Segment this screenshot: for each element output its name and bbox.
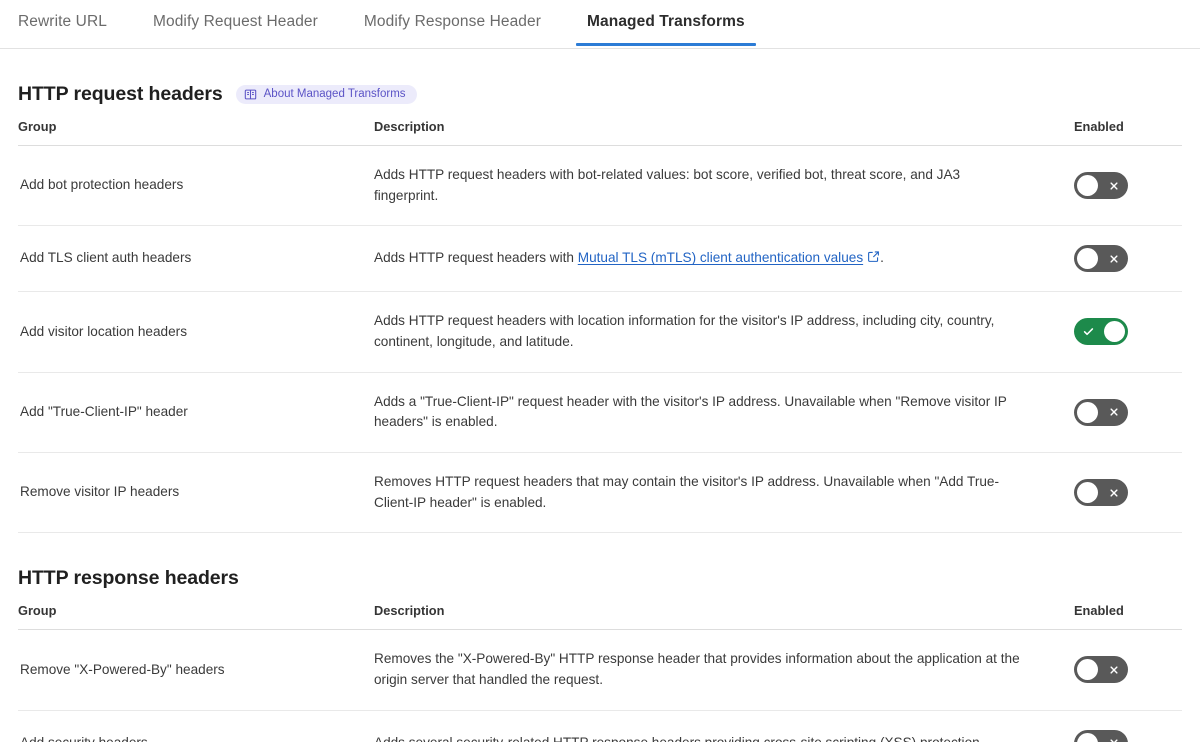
column-header-group: Group <box>18 603 374 630</box>
enabled-toggle[interactable] <box>1074 656 1128 683</box>
row-group-name: Add bot protection headers <box>18 146 374 226</box>
table-header-row: GroupDescriptionEnabled <box>18 119 1182 146</box>
row-group-name: Remove "X-Powered-By" headers <box>18 630 374 710</box>
tab-managed-transforms[interactable]: Managed Transforms <box>587 0 745 45</box>
row-enabled-cell <box>1074 226 1182 292</box>
row-description: Adds several security-related HTTP respo… <box>374 710 1074 742</box>
column-header-enabled: Enabled <box>1074 603 1182 630</box>
table-header-row: GroupDescriptionEnabled <box>18 603 1182 630</box>
toggle-knob <box>1077 402 1098 423</box>
section-header: HTTP request headersAbout Managed Transf… <box>18 83 1182 106</box>
row-enabled-cell <box>1074 292 1182 372</box>
section-header: HTTP response headers <box>18 567 1182 590</box>
row-description: Adds HTTP request headers with location … <box>374 292 1074 372</box>
close-icon <box>1100 656 1127 683</box>
tab-rewrite-url[interactable]: Rewrite URL <box>18 0 107 45</box>
table-row: Remove "X-Powered-By" headersRemoves the… <box>18 630 1182 710</box>
row-enabled-cell <box>1074 630 1182 710</box>
close-icon <box>1100 479 1127 506</box>
row-enabled-cell <box>1074 146 1182 226</box>
toggle-knob <box>1104 321 1125 342</box>
about-managed-transforms-badge[interactable]: About Managed Transforms <box>236 85 417 104</box>
row-group-name: Add visitor location headers <box>18 292 374 372</box>
row-group-name: Add security headers <box>18 710 374 742</box>
toggle-knob <box>1077 733 1098 742</box>
check-icon <box>1075 318 1102 345</box>
enabled-toggle[interactable] <box>1074 399 1128 426</box>
book-icon <box>244 88 257 101</box>
row-enabled-cell <box>1074 452 1182 532</box>
close-icon <box>1100 730 1127 742</box>
enabled-toggle[interactable] <box>1074 318 1128 345</box>
row-description: Adds HTTP request headers with bot-relat… <box>374 146 1074 226</box>
tab-bar: Rewrite URLModify Request HeaderModify R… <box>0 0 1200 49</box>
tab-modify-response-header[interactable]: Modify Response Header <box>364 0 541 45</box>
table-row: Add TLS client auth headersAdds HTTP req… <box>18 226 1182 292</box>
column-header-group: Group <box>18 119 374 146</box>
section-http-response-headers: HTTP response headersGroupDescriptionEna… <box>0 567 1200 742</box>
enabled-toggle[interactable] <box>1074 730 1128 742</box>
table-row: Add visitor location headersAdds HTTP re… <box>18 292 1182 372</box>
row-description: Removes the "X-Powered-By" HTTP response… <box>374 630 1074 710</box>
column-header-description: Description <box>374 603 1074 630</box>
row-enabled-cell <box>1074 710 1182 742</box>
row-description: Removes HTTP request headers that may co… <box>374 452 1074 532</box>
close-icon <box>1100 399 1127 426</box>
managed-transforms-table: GroupDescriptionEnabledAdd bot protectio… <box>18 119 1182 533</box>
row-group-name: Add TLS client auth headers <box>18 226 374 292</box>
row-description: Adds a "True-Client-IP" request header w… <box>374 372 1074 452</box>
enabled-toggle[interactable] <box>1074 172 1128 199</box>
description-text: Adds HTTP request headers with <box>374 250 578 265</box>
row-group-name: Remove visitor IP headers <box>18 452 374 532</box>
table-row: Add "True-Client-IP" headerAdds a "True-… <box>18 372 1182 452</box>
close-icon <box>1100 245 1127 272</box>
section-title: HTTP response headers <box>18 567 239 590</box>
column-header-enabled: Enabled <box>1074 119 1182 146</box>
about-badge-label: About Managed Transforms <box>264 89 406 101</box>
tab-modify-request-header[interactable]: Modify Request Header <box>153 0 318 45</box>
section-http-request-headers: HTTP request headersAbout Managed Transf… <box>0 83 1200 533</box>
row-description: Adds HTTP request headers with Mutual TL… <box>374 226 1074 292</box>
column-header-description: Description <box>374 119 1074 146</box>
toggle-knob <box>1077 175 1098 196</box>
description-link[interactable]: Mutual TLS (mTLS) client authentication … <box>578 250 863 265</box>
section-title: HTTP request headers <box>18 83 223 106</box>
table-row: Add security headersAdds several securit… <box>18 710 1182 742</box>
enabled-toggle[interactable] <box>1074 245 1128 272</box>
row-enabled-cell <box>1074 372 1182 452</box>
row-group-name: Add "True-Client-IP" header <box>18 372 374 452</box>
managed-transforms-table: GroupDescriptionEnabledRemove "X-Powered… <box>18 603 1182 742</box>
close-icon <box>1100 172 1127 199</box>
enabled-toggle[interactable] <box>1074 479 1128 506</box>
toggle-knob <box>1077 482 1098 503</box>
external-link-icon <box>867 250 880 263</box>
description-text-tail: . <box>880 250 884 265</box>
table-row: Remove visitor IP headersRemoves HTTP re… <box>18 452 1182 532</box>
toggle-knob <box>1077 248 1098 269</box>
sections-root: HTTP request headersAbout Managed Transf… <box>0 83 1200 742</box>
table-row: Add bot protection headersAdds HTTP requ… <box>18 146 1182 226</box>
toggle-knob <box>1077 659 1098 680</box>
